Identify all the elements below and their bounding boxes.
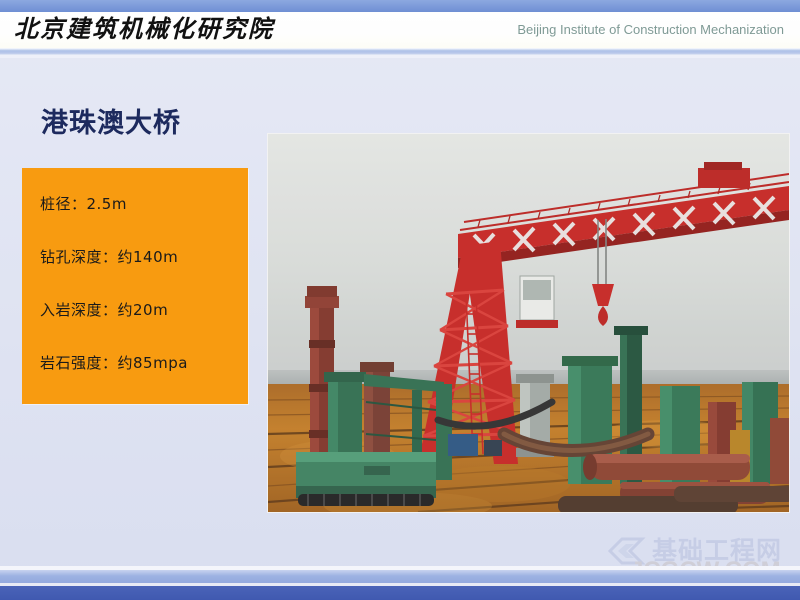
footer-bottom-bar xyxy=(0,586,800,600)
spec-item-rock-entry-depth: 入岩深度：约20m xyxy=(40,300,248,320)
construction-site-photo xyxy=(267,133,790,513)
page-title: 港珠澳大桥 xyxy=(41,101,181,140)
brand-name-chinese: 北京建筑机械化研究院 xyxy=(14,14,274,44)
header-underline xyxy=(0,48,800,55)
slide-canvas: 北京建筑机械化研究院 Beijing Institute of Construc… xyxy=(0,0,800,600)
header-top-accent-bar xyxy=(0,0,800,12)
spec-item-pile-diameter: 桩径：2.5m xyxy=(40,194,248,214)
spec-item-rock-strength: 岩石强度：约85mpa xyxy=(40,353,248,373)
diamond-logo-icon xyxy=(608,535,648,567)
header-underline-secondary xyxy=(0,55,800,58)
brand-name-english: Beijing Institute of Construction Mechan… xyxy=(517,22,784,38)
watermark-text-chinese: 基础工程网 xyxy=(652,531,782,567)
spec-info-box: 桩径：2.5m 钻孔深度：约140m 入岩深度：约20m 岩石强度：约85mpa xyxy=(22,168,248,404)
photo-artwork xyxy=(268,134,789,512)
spec-item-drilling-depth: 钻孔深度：约140m xyxy=(40,247,248,267)
footer-accent-band xyxy=(0,570,800,583)
